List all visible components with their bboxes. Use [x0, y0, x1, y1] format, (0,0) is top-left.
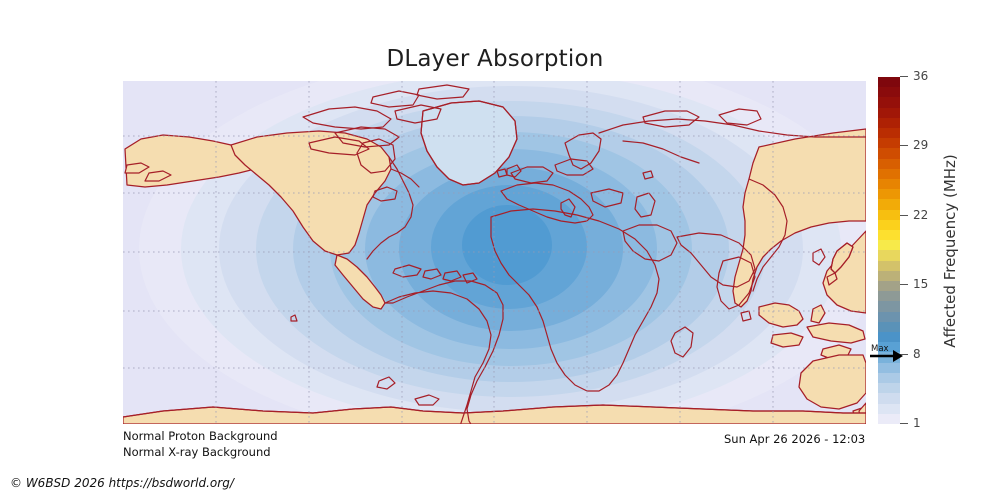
colorbar-segment	[878, 271, 900, 281]
colorbar-segment	[878, 97, 900, 107]
colorbar-segment	[878, 414, 900, 424]
colorbar-segment	[878, 148, 900, 158]
colorbar-segment	[878, 128, 900, 138]
colorbar-segment	[878, 220, 900, 230]
colorbar-segment	[878, 250, 900, 260]
colorbar-segment	[878, 199, 900, 209]
colorbar-tick-36: 36	[900, 69, 928, 83]
colorbar-tick-8: 8	[900, 347, 921, 361]
colorbar-segment	[878, 87, 900, 97]
colorbar-segment	[878, 240, 900, 250]
colorbar-segment	[878, 312, 900, 322]
colorbar-segment	[878, 301, 900, 311]
colorbar-segment	[878, 404, 900, 414]
colorbar-segment	[878, 210, 900, 220]
colorbar-segment	[878, 373, 900, 383]
copyright-notice: © W6BSD 2026 https://bsdworld.org/	[10, 476, 234, 490]
map-svg	[123, 81, 866, 424]
max-marker: Max	[869, 345, 903, 371]
colorbar-segment	[878, 291, 900, 301]
background-status-notes: Normal Proton Background Normal X-ray Ba…	[123, 429, 278, 460]
page-title: DLayer Absorption	[0, 46, 990, 72]
colorbar-segment	[878, 159, 900, 169]
colorbar-segment	[878, 169, 900, 179]
colorbar-segment	[878, 332, 900, 342]
timestamp: Sun Apr 26 2026 - 12:03	[724, 432, 865, 446]
colorbar-tick-15: 15	[900, 277, 928, 291]
colorbar-segment	[878, 322, 900, 332]
colorbar-segment	[878, 189, 900, 199]
colorbar-segment	[878, 108, 900, 118]
absorption-map[interactable]	[123, 81, 866, 424]
colorbar-label-text: Affected Frequency (MHz)	[941, 154, 959, 348]
colorbar-segment	[878, 77, 900, 87]
colorbar-tick-22: 22	[900, 208, 928, 222]
proton-background-note: Normal Proton Background	[123, 429, 278, 445]
colorbar-segment	[878, 261, 900, 271]
colorbar-segment	[878, 281, 900, 291]
colorbar-segment	[878, 383, 900, 393]
max-marker-label: Max	[871, 344, 889, 354]
colorbar-segment	[878, 118, 900, 128]
colorbar[interactable]	[878, 77, 900, 424]
colorbar-segment	[878, 179, 900, 189]
colorbar-segment	[878, 138, 900, 148]
colorbar-segment	[878, 230, 900, 240]
colorbar-tick-1: 1	[900, 416, 921, 430]
colorbar-axis-label: Affected Frequency (MHz)	[938, 77, 962, 424]
colorbar-segment	[878, 393, 900, 403]
xray-background-note: Normal X-ray Background	[123, 445, 278, 461]
colorbar-tick-29: 29	[900, 138, 928, 152]
